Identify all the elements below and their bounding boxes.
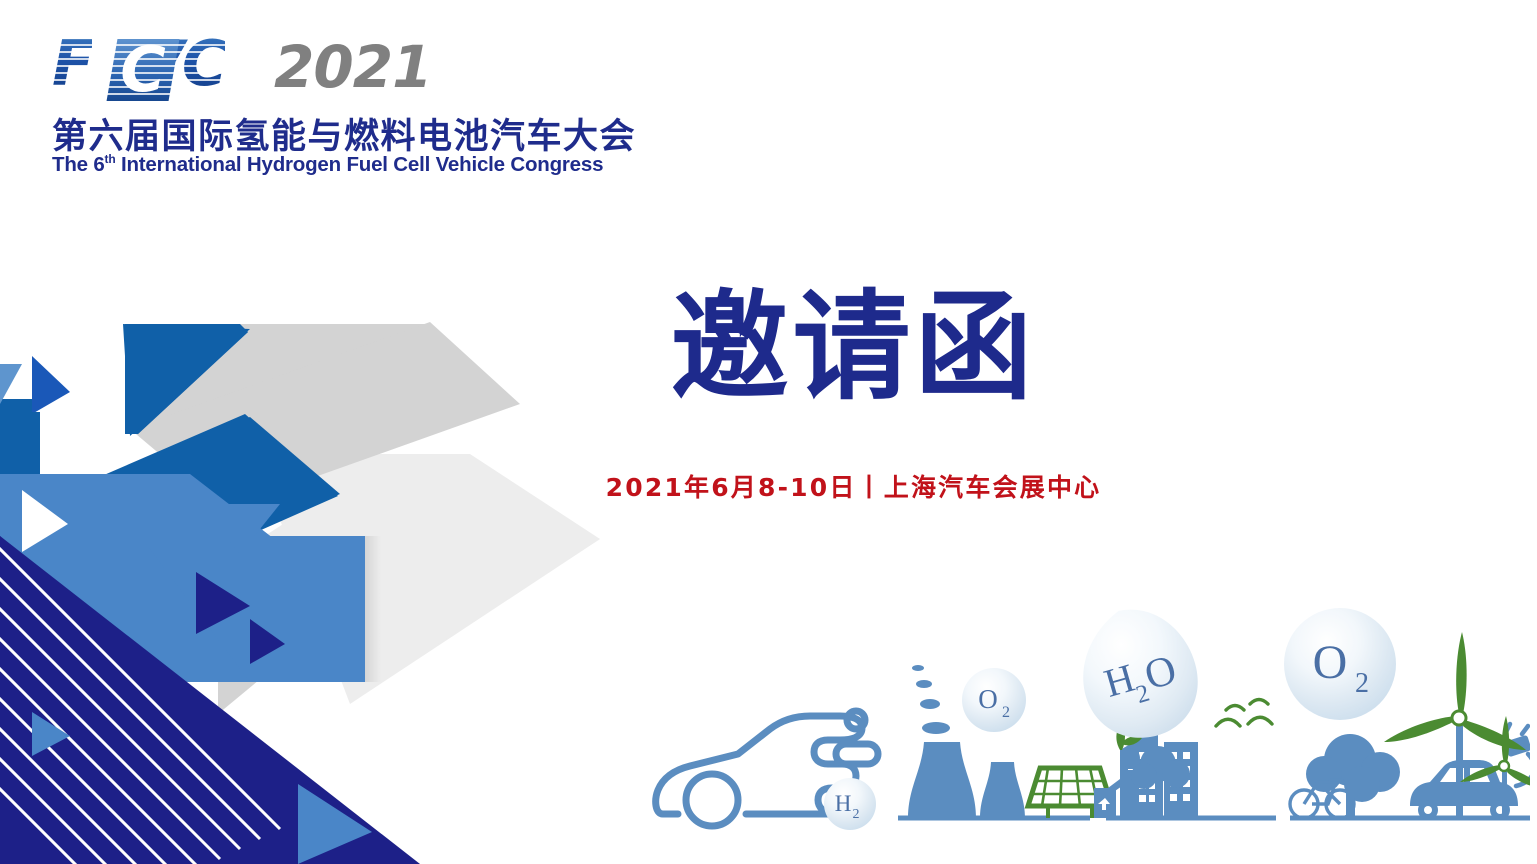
h2-label: H [835,791,852,816]
birds-icon [1216,700,1272,727]
cooling-towers-icon [908,742,1025,818]
geo-edge-shadow [365,536,381,682]
event-logo: FCVC C 2021 [52,33,652,105]
o2-large-label: O [1313,636,1348,689]
h2-subscript: 2 [853,807,860,822]
o2-bubble-small: O 2 [962,668,1026,732]
o2-large-subscript: 2 [1355,668,1369,699]
invitation-slide: FCVC C 2021 第六届国际氢能与燃料电池汽车大会 The 6th Int… [0,0,1537,864]
logo-letter-f: F [52,27,92,100]
event-date-venue: 2021年6月8-10日丨上海汽车会展中心 [0,468,1537,504]
o2-small-subscript: 2 [1002,704,1010,721]
logo-letter-c: C [114,39,172,101]
logo-english-name: The 6th International Hydrogen Fuel Cell… [52,152,603,177]
recycle-bin-icon [1094,788,1116,818]
eco-illustration: H 2 [650,592,1530,852]
page-title: 邀请函 [0,288,1537,406]
logo-english-ordinal: th [105,152,116,166]
logo-english-prefix: The 6 [52,153,105,176]
h2-bubble: H 2 [824,778,876,830]
o2-bubble-large: O 2 [1284,608,1396,720]
smoke-puffs [912,665,950,734]
h2o-drop: H 2 O [1070,598,1209,749]
logo-wordmark-row: FCVC C 2021 [52,33,652,105]
logo-year: 2021 [274,35,431,99]
logo-english-rest: International Hydrogen Fuel Cell Vehicle… [115,153,603,176]
o2-small-label: O [978,684,998,714]
